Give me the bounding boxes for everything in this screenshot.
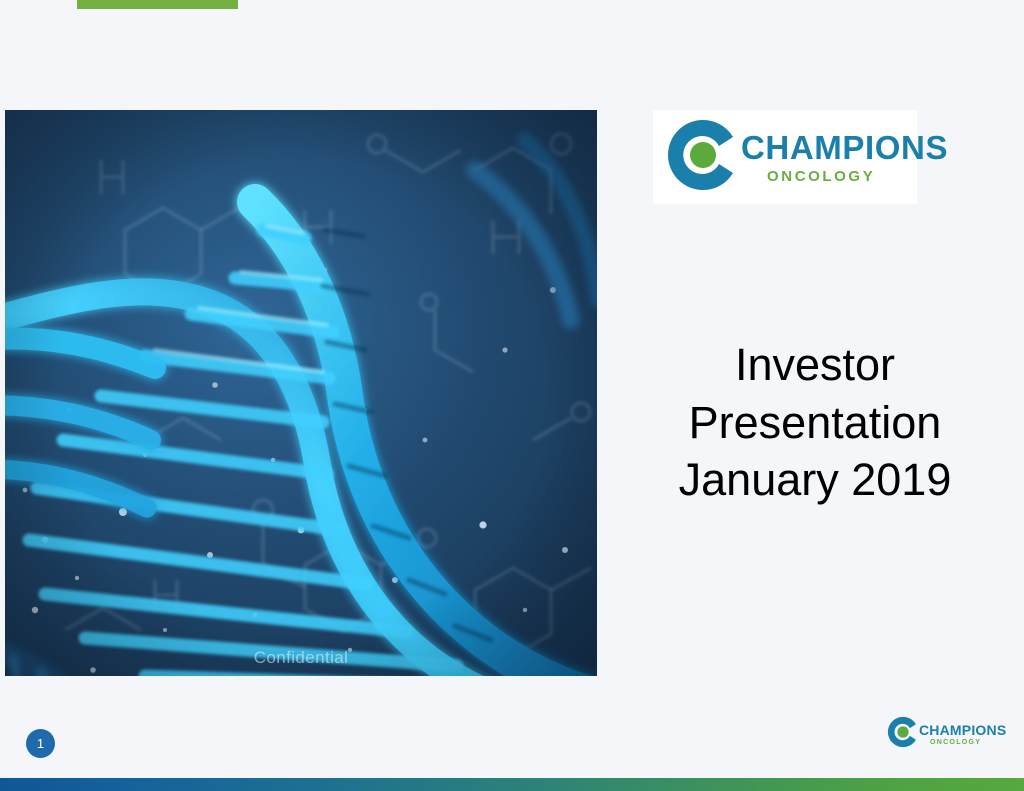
- top-accent-bar: [77, 0, 238, 9]
- logo-oncology-text: ONCOLOGY: [767, 169, 875, 184]
- hero-dna-image: Confidential: [5, 110, 597, 676]
- logo-champions-text: CHAMPIONS: [741, 131, 948, 164]
- page-title: Investor Presentation January 2019: [620, 336, 1010, 509]
- footer-logo-wordmark: CHAMPIONS ONCOLOGY: [919, 723, 1006, 746]
- champions-c-ring-icon: [659, 114, 747, 201]
- footer-champions-text: CHAMPIONS: [919, 723, 1006, 737]
- bottom-gradient-bar: [0, 778, 1024, 791]
- title-line-2: Presentation: [620, 394, 1010, 452]
- presentation-slide: Confidential CHAMPIONS ONCOLOGY Investor…: [0, 0, 1024, 791]
- champions-oncology-logo: CHAMPIONS ONCOLOGY: [653, 110, 917, 204]
- title-line-3: January 2019: [620, 451, 1010, 509]
- logo-lockup: CHAMPIONS ONCOLOGY: [659, 114, 948, 201]
- footer-champions-c-ring-icon: [884, 714, 922, 755]
- page-number-badge: 1: [26, 729, 55, 758]
- logo-wordmark: CHAMPIONS ONCOLOGY: [741, 131, 948, 184]
- dna-illustration-icon: [5, 110, 597, 676]
- footer-oncology-text: ONCOLOGY: [930, 739, 981, 746]
- title-line-1: Investor: [620, 336, 1010, 394]
- footer-champions-oncology-logo: CHAMPIONS ONCOLOGY: [884, 714, 1006, 755]
